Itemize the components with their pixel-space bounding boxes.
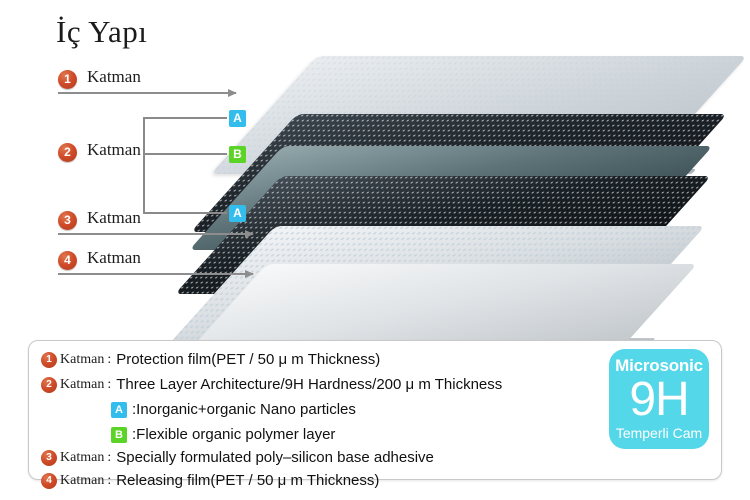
exploded-layer-illustration	[228, 50, 750, 350]
legend-separator-4: :	[107, 473, 111, 489]
legend-number-2: 2	[41, 377, 57, 393]
screenshot-root: İç Yapı	[0, 0, 750, 500]
callout-label-1: Katman	[87, 67, 141, 87]
callout-number-2: 2	[58, 143, 77, 162]
legend-text-tag-a: :Inorganic+organic Nano particles	[132, 401, 356, 418]
callout-number-1: 1	[58, 70, 77, 89]
badge-grade: 9H	[609, 374, 709, 426]
legend-separator-3: :	[107, 450, 111, 466]
callout-number-3: 3	[58, 211, 77, 230]
legend-text-2: Three Layer Architecture/9H Hardness/200…	[116, 376, 502, 393]
legend-row-2: 2Katman:Three Layer Architecture/9H Hard…	[41, 376, 502, 398]
legend-separator-2: :	[107, 377, 111, 393]
legend-text-tag-b: :Flexible organic polymer layer	[132, 426, 335, 443]
legend-row-1: 1Katman:Protection film(PET / 50 μ m Thi…	[41, 351, 380, 373]
tag-b-middle: B	[229, 146, 246, 163]
legend-row-4: 4Katman:Releasing film(PET / 50 μ m Thic…	[41, 472, 379, 494]
legend-tag-b: B	[111, 427, 127, 443]
legend-panel: 1Katman:Protection film(PET / 50 μ m Thi…	[28, 340, 722, 480]
legend-number-3: 3	[41, 450, 57, 466]
legend-row-tag-a: A:Inorganic+organic Nano particles	[111, 401, 356, 423]
legend-tag-a: A	[111, 402, 127, 418]
callout-label-4: Katman	[87, 248, 141, 268]
legend-text-4: Releasing film(PET / 50 μ m Thickness)	[116, 472, 379, 489]
legend-layer-word-1: Katman	[60, 352, 104, 368]
callout-layer-2: 2 Katman	[58, 143, 148, 169]
callout-layer-3: 3 Katman	[58, 211, 258, 237]
legend-layer-word-2: Katman	[60, 377, 104, 393]
callout-label-2: Katman	[87, 140, 141, 160]
legend-layer-word-4: Katman	[60, 473, 104, 489]
callout-layer-4: 4 Katman	[58, 251, 258, 277]
callout-label-3: Katman	[87, 208, 141, 228]
badge-brand: Microsonic	[609, 349, 709, 374]
badge-subtitle: Temperli Cam	[609, 426, 709, 440]
legend-number-1: 1	[41, 352, 57, 368]
tag-a-top: A	[229, 110, 246, 127]
microsonic-9h-badge: Microsonic 9H Temperli Cam	[609, 349, 709, 449]
legend-text-3: Specially formulated poly–silicon base a…	[116, 449, 434, 466]
callout-layer-1: 1 Katman	[58, 70, 248, 96]
callout-number-4: 4	[58, 251, 77, 270]
callout-arrow-1	[58, 92, 236, 94]
legend-layer-word-3: Katman	[60, 450, 104, 466]
legend-number-4: 4	[41, 473, 57, 489]
callout-arrow-4	[58, 273, 253, 275]
page-title: İç Yapı	[56, 14, 147, 50]
legend-text-1: Protection film(PET / 50 μ m Thickness)	[116, 351, 380, 368]
legend-row-tag-b: B:Flexible organic polymer layer	[111, 426, 335, 448]
legend-separator-1: :	[107, 352, 111, 368]
legend-row-3: 3Katman:Specially formulated poly–silico…	[41, 449, 434, 471]
callout-arrow-3	[58, 233, 253, 235]
